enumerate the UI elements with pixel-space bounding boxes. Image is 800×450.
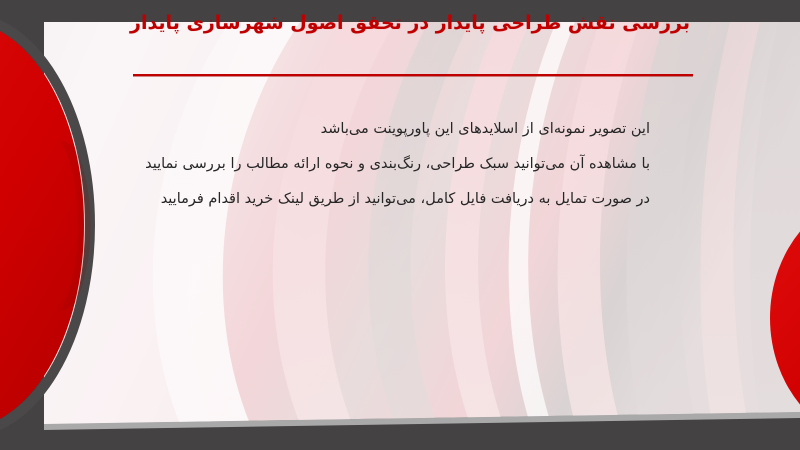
- presentation-slide: بررسی نقش طراحی پایدار در تحقق اصول شهرس…: [0, 0, 800, 450]
- title-underline-rule: [133, 74, 693, 76]
- body-line-1: این تصویر نمونه‌ای از اسلایدهای این پاور…: [50, 112, 650, 147]
- slide-title: بررسی نقش طراحی پایدار در تحقق اصول شهرس…: [120, 10, 700, 36]
- body-line-3: در صورت تمایل به دریافت فایل کامل، می‌تو…: [50, 182, 650, 217]
- body-text-block: این تصویر نمونه‌ای از اسلایدهای این پاور…: [50, 112, 650, 217]
- body-line-2: با مشاهده آن می‌توانید سبک طراحی، رنگ‌بن…: [50, 147, 650, 182]
- slide-content: بررسی نقش طراحی پایدار در تحقق اصول شهرس…: [0, 0, 800, 450]
- title-block: بررسی نقش طراحی پایدار در تحقق اصول شهرس…: [120, 10, 700, 36]
